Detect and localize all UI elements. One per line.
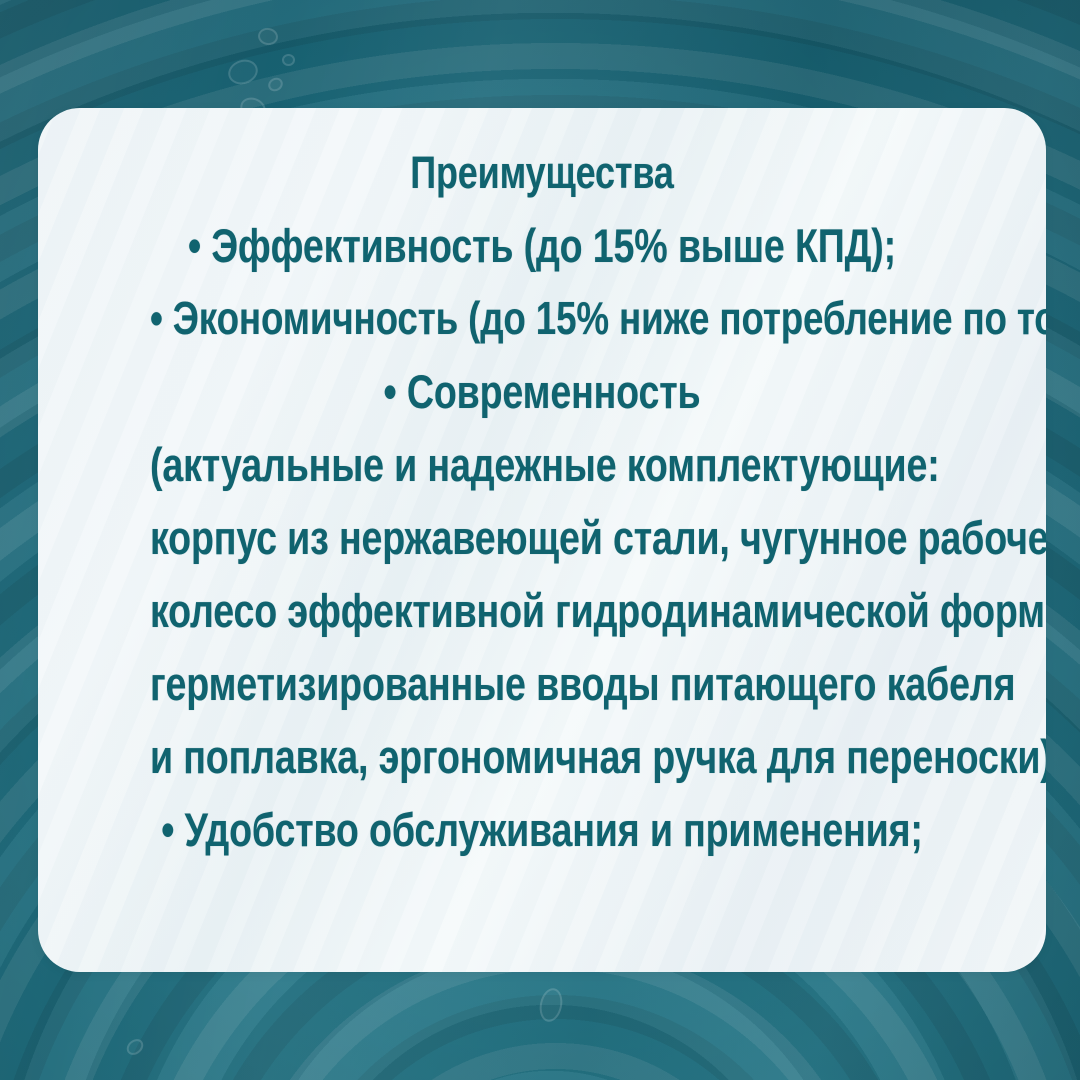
poster: Преимущества • Эффективность (до 15% выш… xyxy=(0,0,1080,1080)
water-droplet-icon xyxy=(282,54,295,66)
advantage-item-modernity: • Современность xyxy=(150,355,934,428)
advantage-detail-line-2: корпус из нержавеющей стали, чугунное ра… xyxy=(150,501,934,574)
advantage-item-efficiency: • Эффективность (до 15% выше КПД); xyxy=(150,209,934,282)
advantage-detail-line-3: колесо эффективной гидродинамической фор… xyxy=(150,574,934,647)
advantage-detail-line-5: и поплавка, эргономичная ручка для перен… xyxy=(150,720,934,793)
advantages-text-block: Преимущества • Эффективность (до 15% выш… xyxy=(38,136,1046,866)
advantage-item-convenience: • Удобство обслуживания и применения; xyxy=(150,793,934,866)
advantage-item-economy: • Экономичность (до 15% ниже потребление… xyxy=(150,282,934,355)
advantage-detail-line-1: (актуальные и надежные комплектующие: xyxy=(150,428,934,501)
page-title: Преимущества xyxy=(150,136,934,209)
content-card: Преимущества • Эффективность (до 15% выш… xyxy=(38,108,1046,972)
advantage-detail-line-4: герметизированные вводы питающего кабеля xyxy=(150,647,934,720)
